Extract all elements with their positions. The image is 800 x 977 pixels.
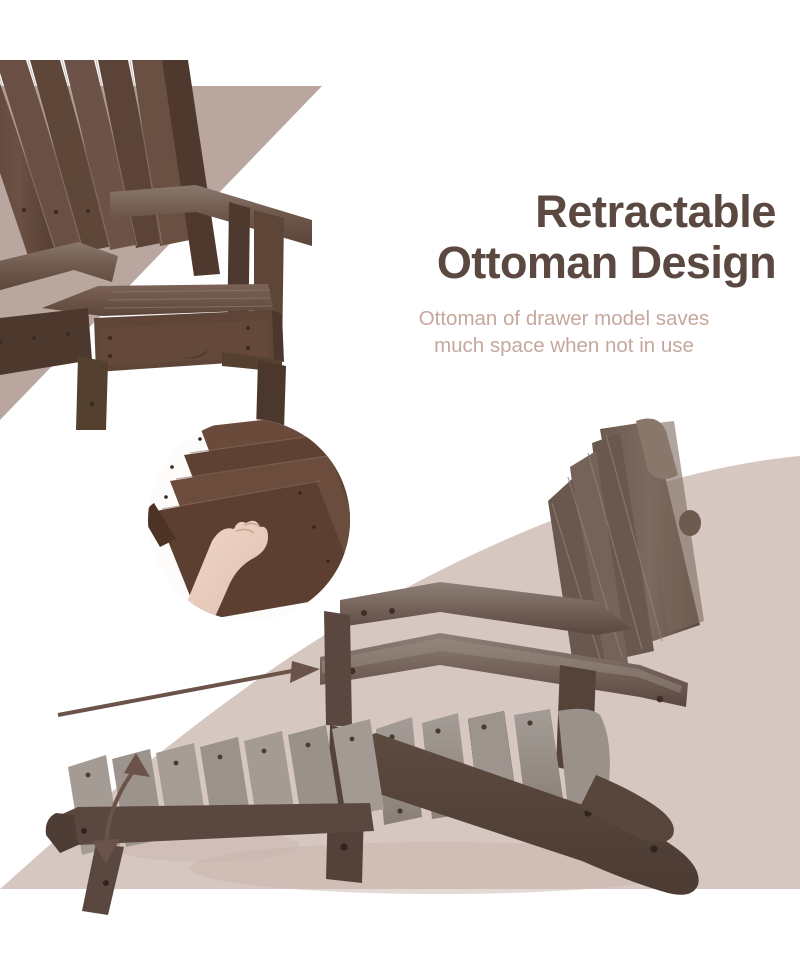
headline-copy-block: Retractable Ottoman Design Ottoman of dr…: [352, 186, 776, 360]
page-title-line1: Retractable: [352, 186, 776, 237]
slide-out-arrow: [58, 661, 320, 715]
chair-backrest-slats: [0, 60, 190, 256]
subtitle-line1: Ottoman of drawer model saves: [352, 305, 776, 332]
product-feature-banner: Retractable Ottoman Design Ottoman of dr…: [0, 0, 800, 977]
chair-backrest: [548, 419, 704, 671]
backrest-pivot-knob: [679, 510, 701, 536]
hand-pulling-ottoman-drawer-inset: [148, 419, 350, 621]
subtitle: Ottoman of drawer model saves much space…: [352, 305, 776, 360]
subtitle-line2: much space when not in use: [352, 332, 776, 359]
adirondack-chair-with-ottoman-stowed: [0, 60, 342, 430]
page-title-line2: Ottoman Design: [352, 237, 776, 288]
chair-arm-post-front: [324, 611, 352, 727]
chair-leg-screws: [90, 402, 95, 407]
